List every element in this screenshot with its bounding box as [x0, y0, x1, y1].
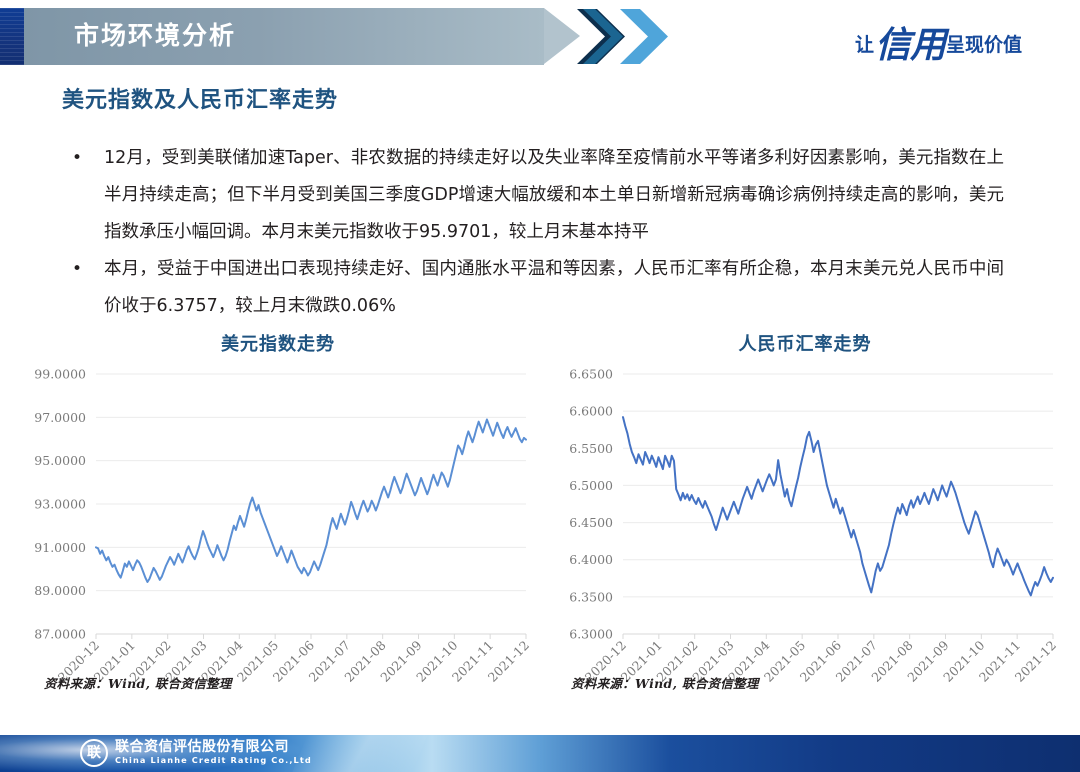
- svg-text:87.0000: 87.0000: [34, 627, 86, 642]
- svg-text:6.3500: 6.3500: [569, 589, 613, 604]
- svg-text:89.0000: 89.0000: [34, 583, 86, 598]
- slide-footer: 联 联合资信评估股份有限公司 China Lianhe Credit Ratin…: [0, 735, 1080, 772]
- bullet-text: 12月，受到美联储加速Taper、非农数据的持续走好以及失业率降至疫情前水平等诸…: [104, 148, 1004, 242]
- chart-source-note: 资料来源：Wind, 联合资信整理: [571, 673, 759, 692]
- svg-text:91.0000: 91.0000: [34, 540, 86, 555]
- header-title: 市场环境分析: [74, 19, 236, 53]
- svg-text:6.5000: 6.5000: [569, 478, 613, 493]
- chart-source-note: 资料来源：Wind, 联合资信整理: [44, 673, 232, 692]
- chart-cny-fx: 人民币汇率走势 6.65006.60006.55006.50006.45006.…: [545, 328, 1065, 728]
- svg-text:93.0000: 93.0000: [34, 497, 86, 512]
- brand-slogan: 让信用呈现价值: [855, 16, 1022, 68]
- chevron-light-icon: [618, 8, 680, 65]
- chart-plot-area: 99.000097.000095.000093.000091.000089.00…: [18, 362, 538, 692]
- bullet-paragraph-1: •12月，受到美联储加速Taper、非农数据的持续走好以及失业率降至疫情前水平等…: [104, 140, 1004, 251]
- chart-usd-index: 美元指数走势 99.000097.000095.000093.000091.00…: [18, 328, 538, 728]
- chart-title: 人民币汇率走势: [545, 330, 1065, 356]
- svg-text:6.3000: 6.3000: [569, 627, 613, 642]
- chart-plot-area: 6.65006.60006.55006.50006.45006.40006.35…: [545, 362, 1065, 692]
- header-navy-block: [0, 8, 24, 65]
- svg-text:6.4500: 6.4500: [569, 515, 613, 530]
- brand-suffix: 呈现价值: [946, 34, 1022, 56]
- slide-root: 市场环境分析 让信用呈现价值 美元指数及人民币汇率走势 •12月，受到美联储加速…: [0, 0, 1080, 772]
- svg-text:97.0000: 97.0000: [34, 410, 86, 425]
- svg-text:95.0000: 95.0000: [34, 453, 86, 468]
- svg-text:99.0000: 99.0000: [34, 367, 86, 382]
- brand-prefix: 让: [855, 34, 874, 56]
- chart-title: 美元指数走势: [18, 330, 538, 356]
- lianhe-logo-icon: 联: [80, 739, 108, 767]
- bullet-paragraph-2: •本月，受益于中国进出口表现持续走好、国内通胀水平温和等因素，人民币汇率有所企稳…: [104, 251, 1004, 325]
- svg-text:6.6000: 6.6000: [569, 404, 613, 419]
- chart-svg: 99.000097.000095.000093.000091.000089.00…: [18, 362, 538, 692]
- company-name-en: China Lianhe Credit Rating Co.,Ltd: [115, 755, 312, 766]
- company-name-cn: 联合资信评估股份有限公司: [115, 740, 312, 755]
- svg-text:6.6500: 6.6500: [569, 367, 613, 382]
- svg-text:6.4000: 6.4000: [569, 552, 613, 567]
- slide-header: 市场环境分析 让信用呈现价值: [0, 8, 1080, 65]
- footer-highlight-sweep: [293, 735, 428, 772]
- brand-emphasis: 信用: [875, 24, 945, 66]
- svg-text:6.5500: 6.5500: [569, 441, 613, 456]
- company-logo: 联 联合资信评估股份有限公司 China Lianhe Credit Ratin…: [80, 739, 312, 767]
- bullet-marker: •: [72, 251, 82, 288]
- bullet-marker: •: [72, 140, 82, 177]
- chart-svg: 6.65006.60006.55006.50006.45006.40006.35…: [545, 362, 1065, 692]
- bullet-text: 本月，受益于中国进出口表现持续走好、国内通胀水平温和等因素，人民币汇率有所企稳，…: [104, 259, 1004, 316]
- page-title: 美元指数及人民币汇率走势: [62, 82, 338, 114]
